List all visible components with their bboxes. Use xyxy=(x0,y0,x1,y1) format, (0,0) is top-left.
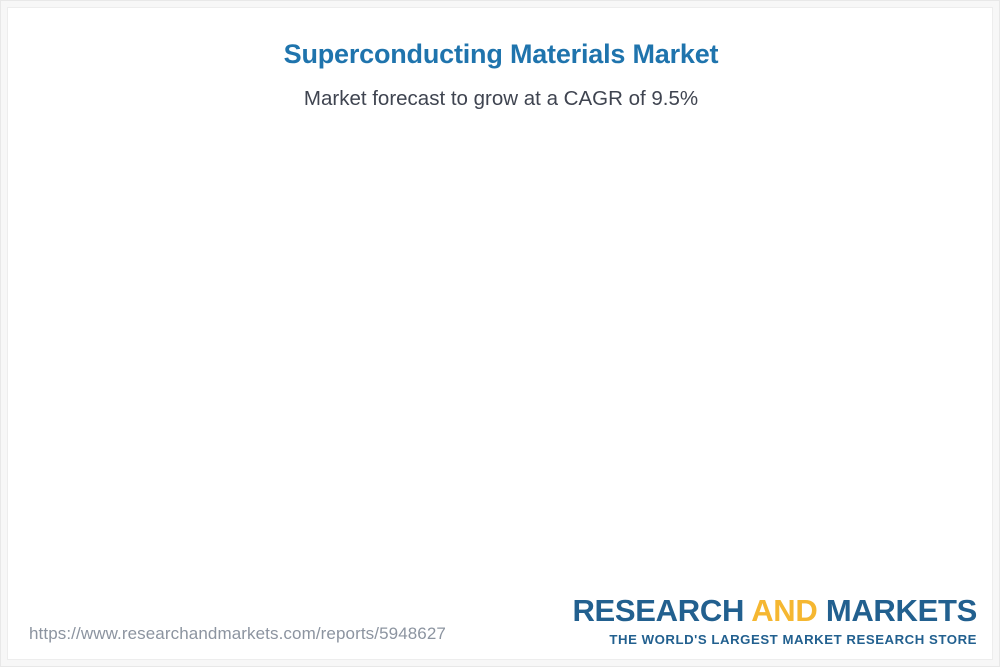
research-and-markets-logo[interactable]: RESEARCH AND MARKETS THE WORLD'S LARGEST… xyxy=(572,595,977,646)
source-url[interactable]: https://www.researchandmarkets.com/repor… xyxy=(29,624,446,644)
infographic-canvas: Superconducting Materials Market Market … xyxy=(0,0,1000,667)
logo-tagline: THE WORLD'S LARGEST MARKET RESEARCH STOR… xyxy=(572,633,977,646)
logo-word-markets: MARKETS xyxy=(826,593,977,628)
logo-word-and: AND xyxy=(751,593,817,628)
chart-plot-area: USD 9.92 Billion xyxy=(1,1,1000,601)
logo-word-research: RESEARCH xyxy=(572,593,744,628)
logo-wordmark: RESEARCH AND MARKETS xyxy=(572,595,977,626)
